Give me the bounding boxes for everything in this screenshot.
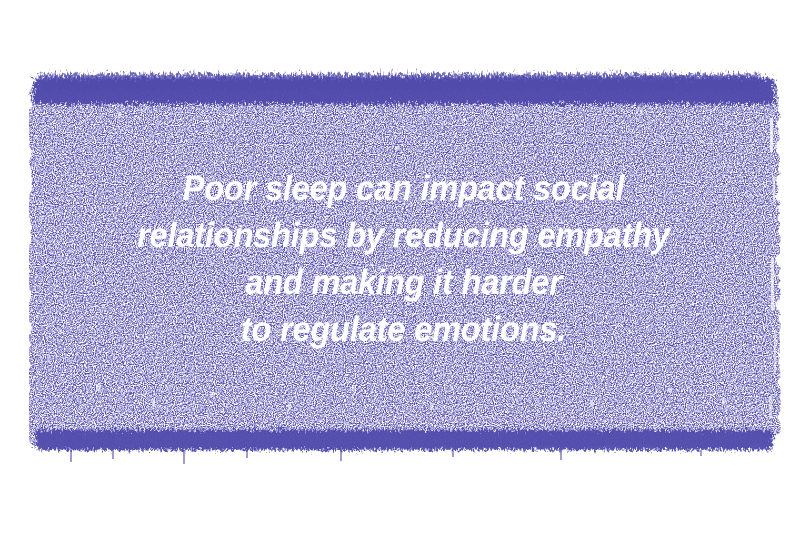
quote-line-4: to regulate emotions. xyxy=(51,306,755,353)
quote-card-canvas: Poor sleep can impact social relationshi… xyxy=(0,0,800,533)
quote-line-2: relationships by reducing empathy xyxy=(51,212,755,259)
quote-line-3: and making it harder xyxy=(51,259,755,306)
quote-line-1: Poor sleep can impact social xyxy=(51,165,755,212)
quote-text-block: Poor sleep can impact social relationshi… xyxy=(25,165,782,353)
